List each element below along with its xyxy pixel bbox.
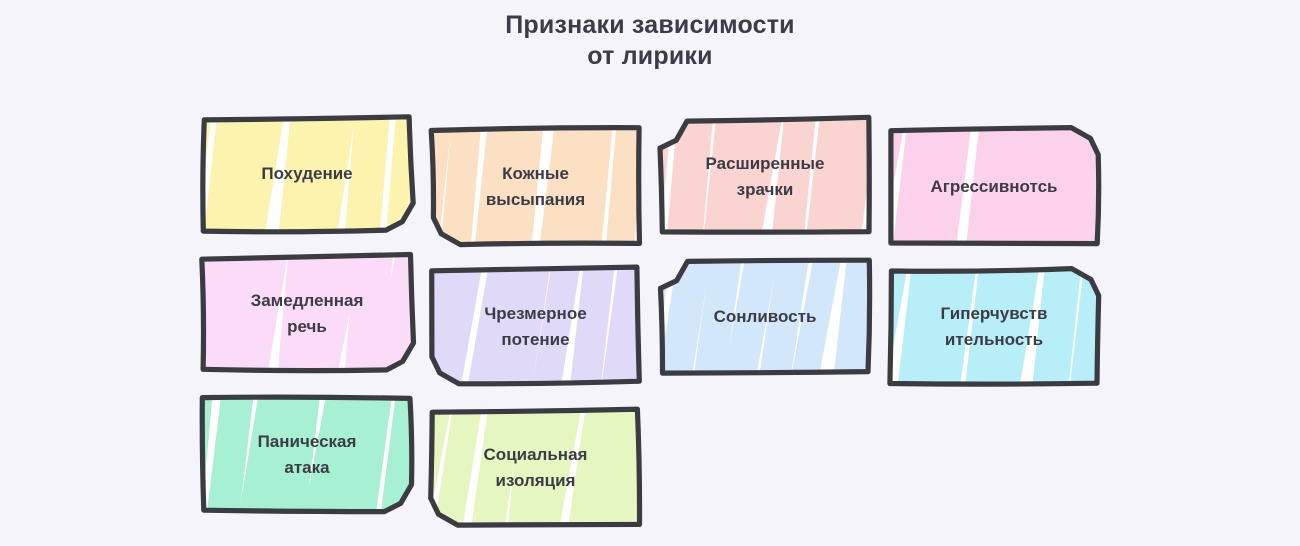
card-shape	[873, 113, 1115, 261]
card-shape	[186, 101, 428, 247]
card-shape	[415, 253, 656, 400]
social-isolation-card[interactable]: Социальная изоляция	[430, 409, 641, 526]
card-shape	[415, 113, 656, 260]
hypersensitivity-card[interactable]: Гиперчувств ительность	[888, 268, 1100, 386]
dilated-pupils-card[interactable]: Расширенные зрачки	[659, 118, 871, 235]
card-fill	[628, 249, 887, 384]
card-fill	[169, 107, 427, 241]
card-shape	[415, 394, 656, 541]
card-shape	[186, 381, 428, 528]
aggression-card[interactable]: Агрессивнотсь	[888, 128, 1100, 246]
page-title: Признаки зависимости от лирики	[0, 10, 1300, 72]
panic-attack-card[interactable]: Паническая атака	[201, 396, 413, 513]
excessive-sweating-card[interactable]: Чрезмерное потение	[430, 268, 641, 385]
card-shape	[644, 103, 886, 250]
card-fill	[397, 260, 654, 393]
card-shape	[186, 240, 428, 387]
drowsiness-card[interactable]: Сонливость	[659, 258, 871, 375]
card-fill	[170, 247, 436, 380]
card-fill	[173, 388, 433, 522]
weight-loss-card[interactable]: Похудение	[201, 116, 413, 232]
skin-rash-card[interactable]: Кожные высыпания	[430, 128, 641, 245]
signs-board: Признаки зависимости от лирики Похудение…	[0, 0, 1300, 546]
slow-speech-card[interactable]: Замедленная речь	[201, 255, 413, 372]
card-shape	[873, 253, 1115, 401]
card-fill	[630, 109, 877, 242]
card-shape	[644, 243, 886, 390]
